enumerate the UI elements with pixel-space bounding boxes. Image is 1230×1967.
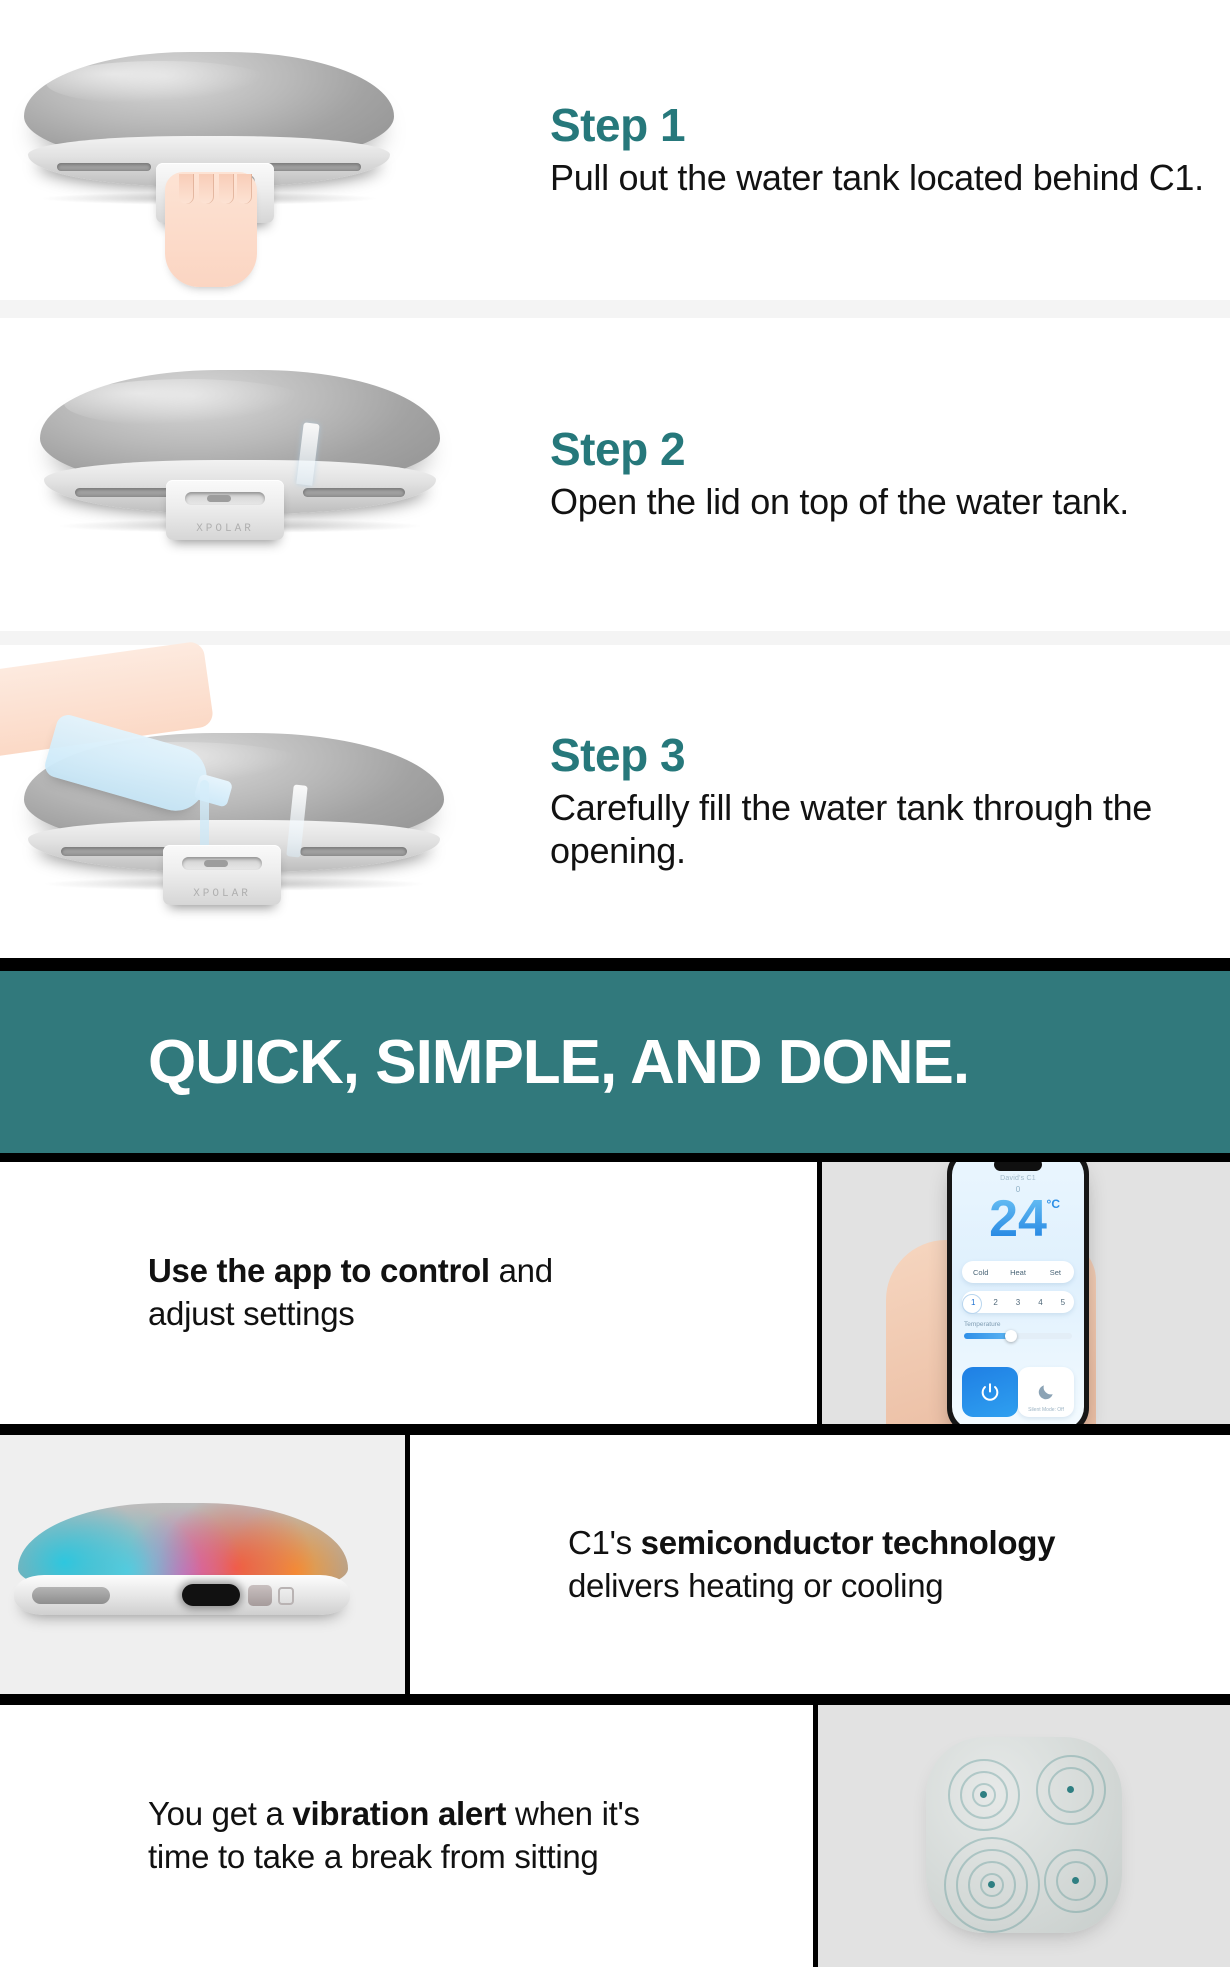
headline-banner: QUICK, SIMPLE, AND DONE.	[0, 971, 1230, 1153]
step-row-3: XPOLAR Step 3 Carefully fill the water t…	[0, 645, 1230, 958]
feature-app-line2: adjust settings	[148, 1295, 354, 1332]
c1-vent-right	[300, 847, 407, 856]
c1-vent-right	[303, 488, 405, 497]
feature-row-vibration: You get a vibration alert when it's time…	[0, 1705, 1230, 1967]
water-tank: XPOLAR	[163, 845, 281, 905]
app-temperature-unit: °C	[1047, 1197, 1060, 1211]
step-3-description: Carefully fill the water tank through th…	[550, 787, 1230, 872]
app-mode-set[interactable]: Set	[1037, 1268, 1074, 1277]
app-level-selector[interactable]: 1 2 3 4 5	[962, 1291, 1074, 1313]
c1-thermal-base	[14, 1575, 350, 1615]
hand-icon	[165, 172, 257, 287]
feature-app-rest: and	[490, 1252, 553, 1289]
step-1-title: Step 1	[550, 101, 1230, 149]
step-1-description: Pull out the water tank located behind C…	[550, 157, 1230, 199]
phone-notch-icon	[994, 1162, 1042, 1171]
infographic-page: XPOLAR Step 1 Pull out the water tank lo…	[0, 0, 1230, 1920]
step-3-title: Step 3	[550, 731, 1230, 779]
c1-button-secondary	[278, 1587, 294, 1605]
feature-semi-bold: semiconductor technology	[641, 1524, 1056, 1561]
step-2-description: Open the lid on top of the water tank.	[550, 481, 1230, 523]
tank-brand-label: XPOLAR	[166, 523, 284, 535]
app-mode-heat[interactable]: Heat	[999, 1268, 1036, 1277]
app-slider-fill	[964, 1333, 1009, 1339]
feature-vibration-image-pane	[818, 1705, 1230, 1967]
phone-screen: David's C1 0 24 °C Cold Heat Set 1 2 3 4	[952, 1162, 1084, 1424]
feature-app-image-pane: David's C1 0 24 °C Cold Heat Set 1 2 3 4	[822, 1162, 1230, 1424]
feature-vib-line2: time to take a break from sitting	[148, 1838, 598, 1875]
banner-top-rule	[0, 958, 1230, 971]
c1-vent-left	[75, 488, 177, 497]
app-slider-knob[interactable]	[1005, 1330, 1017, 1342]
c1-vent-right	[267, 163, 361, 172]
app-level-1[interactable]: 1	[962, 1298, 984, 1307]
step-1-copy: Step 1 Pull out the water tank located b…	[545, 101, 1230, 200]
feature-app-bold: Use the app to control	[148, 1252, 490, 1289]
c1-button	[248, 1585, 272, 1606]
finger	[237, 174, 252, 204]
headline-text: QUICK, SIMPLE, AND DONE.	[0, 1027, 969, 1098]
step-1-illustration: XPOLAR	[0, 0, 545, 300]
phone-mockup: David's C1 0 24 °C Cold Heat Set 1 2 3 4	[947, 1162, 1089, 1424]
tank-brand-label: XPOLAR	[163, 888, 281, 900]
ripple-center-dot	[1067, 1786, 1074, 1793]
step-row-1: XPOLAR Step 1 Pull out the water tank lo…	[0, 0, 1230, 300]
feature-vibration-copy: You get a vibration alert when it's time…	[148, 1793, 640, 1879]
separator-band-1	[0, 300, 1230, 318]
step-2-copy: Step 2 Open the lid on top of the water …	[545, 425, 1230, 524]
feature-thermal-image-pane	[0, 1435, 410, 1694]
step-2-illustration: XPOLAR	[0, 318, 545, 631]
c1-port	[182, 1584, 240, 1606]
feature-semi-prefix: C1's	[568, 1524, 641, 1561]
feature-row-semiconductor: C1's semiconductor technology delivers h…	[0, 1435, 1230, 1694]
water-tank: XPOLAR	[166, 480, 284, 540]
divider-horizontal-2	[0, 1694, 1230, 1705]
feature-vibration-text-pane: You get a vibration alert when it's time…	[0, 1705, 818, 1967]
moon-icon	[1036, 1382, 1056, 1402]
feature-vib-prefix: You get a	[148, 1795, 292, 1832]
app-level-2[interactable]: 2	[984, 1298, 1006, 1307]
divider-horizontal-1	[0, 1424, 1230, 1435]
step-3-copy: Step 3 Carefully fill the water tank thr…	[545, 731, 1230, 872]
feature-app-copy: Use the app to control and adjust settin…	[148, 1250, 553, 1336]
app-night-mode-button[interactable]: Silent Mode: Off	[1018, 1367, 1074, 1417]
app-temperature: 24	[952, 1193, 1084, 1245]
ripple-center-dot	[980, 1791, 987, 1798]
app-night-mode-label: Silent Mode: Off	[1028, 1407, 1064, 1413]
app-mode-cold[interactable]: Cold	[962, 1268, 999, 1277]
step-2-title: Step 2	[550, 425, 1230, 473]
app-slider-label: Temperature	[964, 1321, 1001, 1328]
finger	[199, 174, 214, 204]
step-row-2: XPOLAR Step 2 Open the lid on top of the…	[0, 318, 1230, 631]
feature-app-text-pane: Use the app to control and adjust settin…	[0, 1162, 822, 1424]
tank-slot	[185, 492, 265, 505]
c1-vibration-pad	[926, 1737, 1122, 1933]
feature-semi-line2: delivers heating or cooling	[568, 1567, 943, 1604]
app-mode-switch[interactable]: Cold Heat Set	[962, 1261, 1074, 1283]
ripple-center-dot	[988, 1881, 995, 1888]
app-level-3[interactable]: 3	[1007, 1298, 1029, 1307]
step-3-illustration: XPOLAR	[0, 645, 545, 958]
finger	[219, 174, 234, 204]
app-power-button[interactable]	[962, 1367, 1018, 1417]
c1-vent-left	[61, 847, 168, 856]
feature-semiconductor-text-pane: C1's semiconductor technology delivers h…	[410, 1435, 1230, 1694]
app-level-5[interactable]: 5	[1052, 1298, 1074, 1307]
feature-semiconductor-copy: C1's semiconductor technology delivers h…	[568, 1522, 1055, 1608]
app-temperature-slider[interactable]	[964, 1333, 1072, 1339]
ripple-center-dot	[1072, 1877, 1079, 1884]
power-icon	[979, 1381, 1001, 1403]
c1-vent-left	[32, 1587, 110, 1604]
app-level-4[interactable]: 4	[1029, 1298, 1051, 1307]
feature-row-app: Use the app to control and adjust settin…	[0, 1162, 1230, 1424]
finger	[179, 174, 194, 204]
tank-slot	[182, 857, 262, 870]
banner-bottom-rule	[0, 1153, 1230, 1162]
c1-vent-left	[57, 163, 151, 172]
app-device-name: David's C1	[952, 1175, 1084, 1182]
feature-vib-rest: when it's	[506, 1795, 640, 1832]
feature-vib-bold: vibration alert	[292, 1795, 506, 1832]
